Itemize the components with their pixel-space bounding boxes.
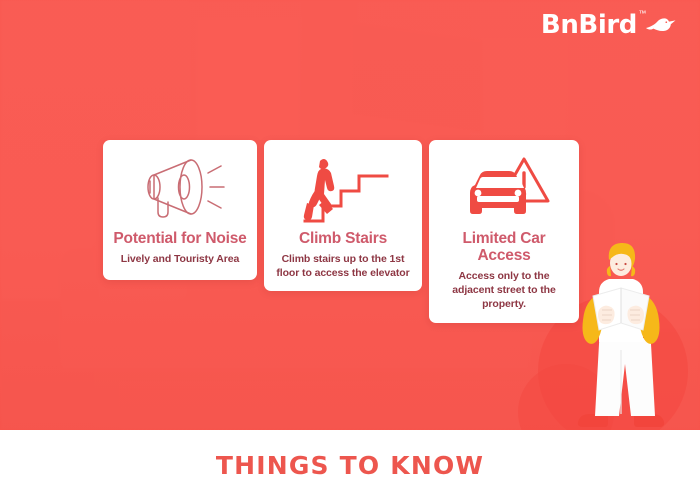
card-potential-for-noise[interactable]: Potential for Noise Lively and Touristy … xyxy=(103,140,257,280)
megaphone-icon xyxy=(128,150,232,228)
car-warning-icon xyxy=(452,150,556,228)
banner-heading: THINGS TO KNOW xyxy=(216,451,484,480)
card-climb-stairs[interactable]: Climb Stairs Climb stairs up to the 1st … xyxy=(264,140,422,291)
person-reading-illustration xyxy=(566,230,676,430)
brand-name: BnBird ™ xyxy=(541,12,637,38)
card-subtitle: Lively and Touristy Area xyxy=(121,252,239,266)
hero-section: BnBird ™ xyxy=(0,0,700,430)
brand-name-text: BnBird xyxy=(541,10,637,40)
character-figure xyxy=(566,230,676,430)
things-to-know-poster: BnBird ™ xyxy=(0,0,700,500)
card-title: Potential for Noise xyxy=(113,230,246,247)
brand-logo[interactable]: BnBird ™ xyxy=(541,12,678,38)
trademark-symbol: ™ xyxy=(638,10,646,18)
car-shape xyxy=(470,171,526,214)
info-cards-row: Potential for Noise Lively and Touristy … xyxy=(103,140,579,323)
bird-icon xyxy=(644,15,678,35)
card-limited-car-access[interactable]: Limited Car Access Access only to the ad… xyxy=(429,140,579,323)
climbing-stairs-icon xyxy=(291,150,395,228)
card-title: Limited Car Access xyxy=(437,230,571,264)
card-subtitle: Climb stairs up to the 1st floor to acce… xyxy=(272,252,414,280)
card-title: Climb Stairs xyxy=(299,230,387,247)
bottom-banner: THINGS TO KNOW xyxy=(0,430,700,500)
card-subtitle: Access only to the adjacent street to th… xyxy=(437,269,571,312)
